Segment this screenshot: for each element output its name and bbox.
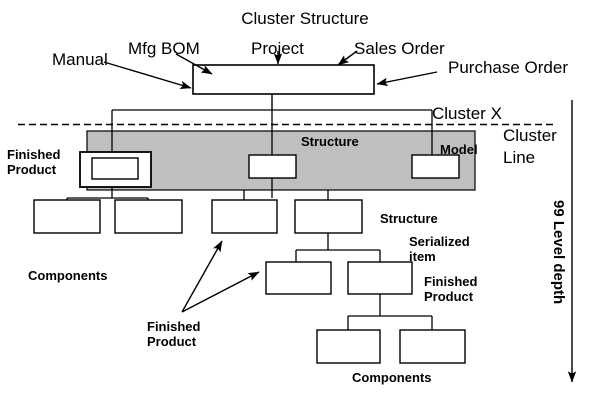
components-bottom-label: Components <box>352 371 431 386</box>
cluster-x-label: Cluster X <box>432 104 502 123</box>
component-box-1 <box>34 200 100 233</box>
callout-label-project: Project <box>251 39 304 58</box>
cluster-line-label-2: Line <box>503 148 535 167</box>
model-box <box>412 155 459 178</box>
structure-right-label: Structure <box>380 212 438 227</box>
callout-label-sales-order: Sales Order <box>354 39 445 58</box>
finished-product-callout-label: Finished Product <box>147 320 200 349</box>
depth-axis-label: 99 Level depth <box>549 200 566 304</box>
bottom-component-box-1 <box>317 330 380 363</box>
serialized-item-box-left <box>266 262 331 294</box>
cluster-structure-diagram: Cluster Structure <box>0 0 614 416</box>
callout-label-manual: Manual <box>52 50 108 69</box>
component-box-3 <box>212 200 277 233</box>
root-cluster-box <box>193 65 374 94</box>
callout-label-mfg-bom: Mfg BOM <box>128 39 200 58</box>
arrow-manual <box>104 62 191 88</box>
band-center-box <box>249 155 296 178</box>
cluster-line-label-1: Cluster <box>503 126 557 145</box>
serialized-item-box-right <box>348 262 412 294</box>
arrow-purchase-order <box>377 72 437 84</box>
model-label: Model <box>440 143 478 158</box>
component-box-4 <box>295 200 362 233</box>
serialized-item-label: Serialized item <box>409 235 470 264</box>
band-structure-label: Structure <box>301 135 359 150</box>
components-left-label: Components <box>28 269 107 284</box>
finished-product-inner-box <box>92 158 138 179</box>
callout-label-purchase-order: Purchase Order <box>448 58 568 77</box>
component-box-2 <box>115 200 182 233</box>
bottom-component-box-2 <box>400 330 465 363</box>
finished-product-right-label: Finished Product <box>424 275 477 304</box>
finished-product-band-label: Finished Product <box>7 148 60 177</box>
